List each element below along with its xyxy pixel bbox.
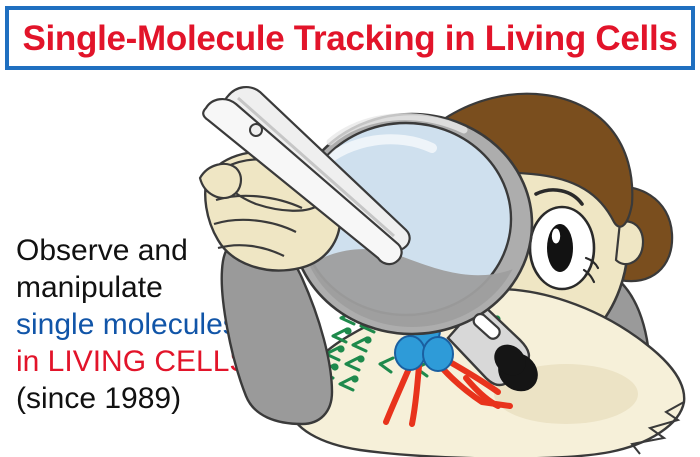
title-banner: Single-Molecule Tracking in Living Cells (5, 6, 695, 70)
page-title: Single-Molecule Tracking in Living Cells (22, 21, 677, 56)
scientist-illustration (180, 72, 700, 457)
slide-canvas: Single-Molecule Tracking in Living Cells… (0, 0, 700, 457)
